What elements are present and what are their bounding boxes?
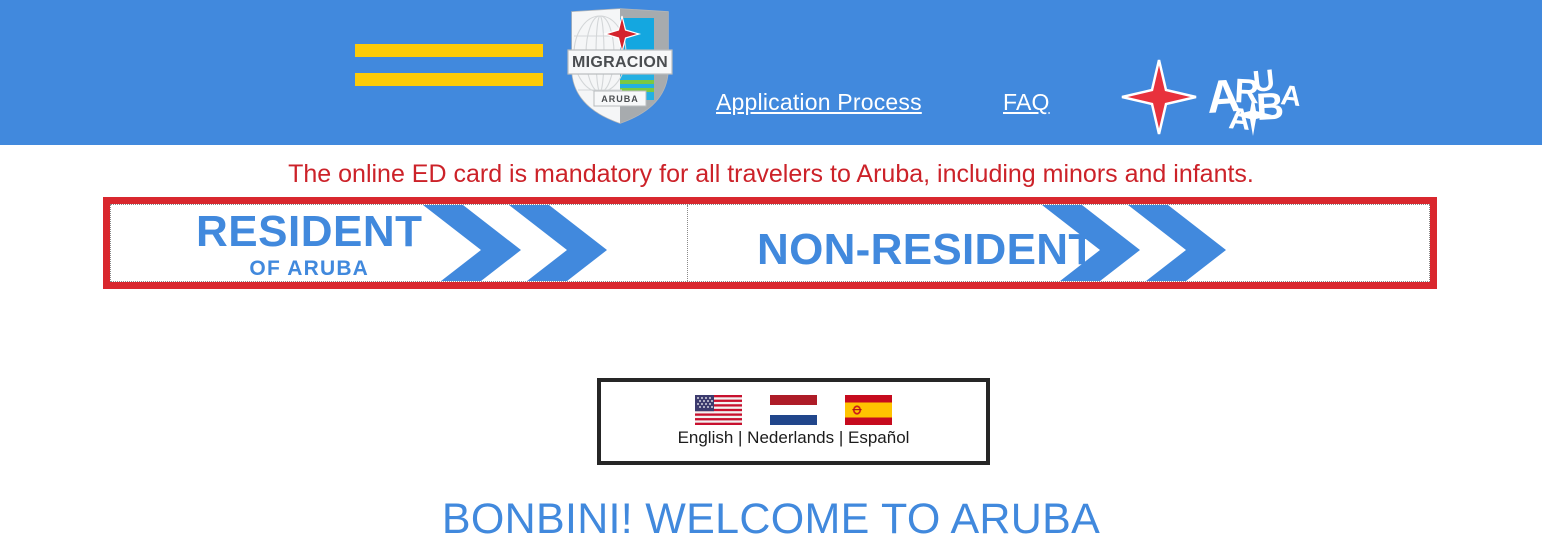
migracion-aruba-shield-logo[interactable]: MIGRACION ARUBA: [566, 6, 674, 126]
aruba-brand-logo[interactable]: A R U A B A: [1120, 58, 1305, 138]
resident-title: RESIDENT: [196, 210, 422, 254]
svg-text:ARUBA: ARUBA: [601, 94, 639, 104]
language-options-text[interactable]: English | Nederlands | Español: [678, 428, 910, 448]
svg-text:A: A: [1279, 79, 1302, 112]
language-selector[interactable]: English | Nederlands | Español: [597, 378, 990, 465]
nav-link-application-process[interactable]: Application Process: [716, 89, 922, 116]
non-resident-option[interactable]: NON-RESIDENT: [688, 205, 1429, 281]
double-chevron-right-icon: [1040, 205, 1230, 281]
page-root: MIGRACION ARUBA Application Process FAQ …: [0, 0, 1542, 556]
mandatory-ed-card-notice: The online ED card is mandatory for all …: [0, 160, 1542, 189]
flag-netherlands-icon[interactable]: [770, 395, 817, 425]
flag-spain-icon[interactable]: [845, 395, 892, 425]
residency-selection-banner: RESIDENT OF ARUBA NON-RESIDENT: [103, 197, 1437, 289]
resident-of-aruba-option[interactable]: RESIDENT OF ARUBA: [111, 205, 688, 281]
welcome-heading: BONBINI! WELCOME TO ARUBA: [0, 495, 1542, 544]
svg-text:A: A: [1227, 102, 1251, 137]
svg-text:MIGRACION: MIGRACION: [572, 54, 668, 71]
hamburger-menu-icon[interactable]: [355, 44, 543, 86]
double-chevron-right-icon: [421, 205, 611, 281]
flag-united-states-icon[interactable]: [695, 395, 742, 425]
site-header: MIGRACION ARUBA Application Process FAQ …: [0, 0, 1542, 145]
hamburger-bar-bottom: [355, 73, 543, 86]
hamburger-bar-top: [355, 44, 543, 57]
residency-banner-inner: RESIDENT OF ARUBA NON-RESIDENT: [110, 204, 1430, 282]
resident-label-group: RESIDENT OF ARUBA: [196, 210, 422, 279]
nav-link-faq[interactable]: FAQ: [1003, 89, 1050, 116]
resident-subtitle: OF ARUBA: [196, 258, 422, 279]
language-flags: [695, 395, 892, 425]
